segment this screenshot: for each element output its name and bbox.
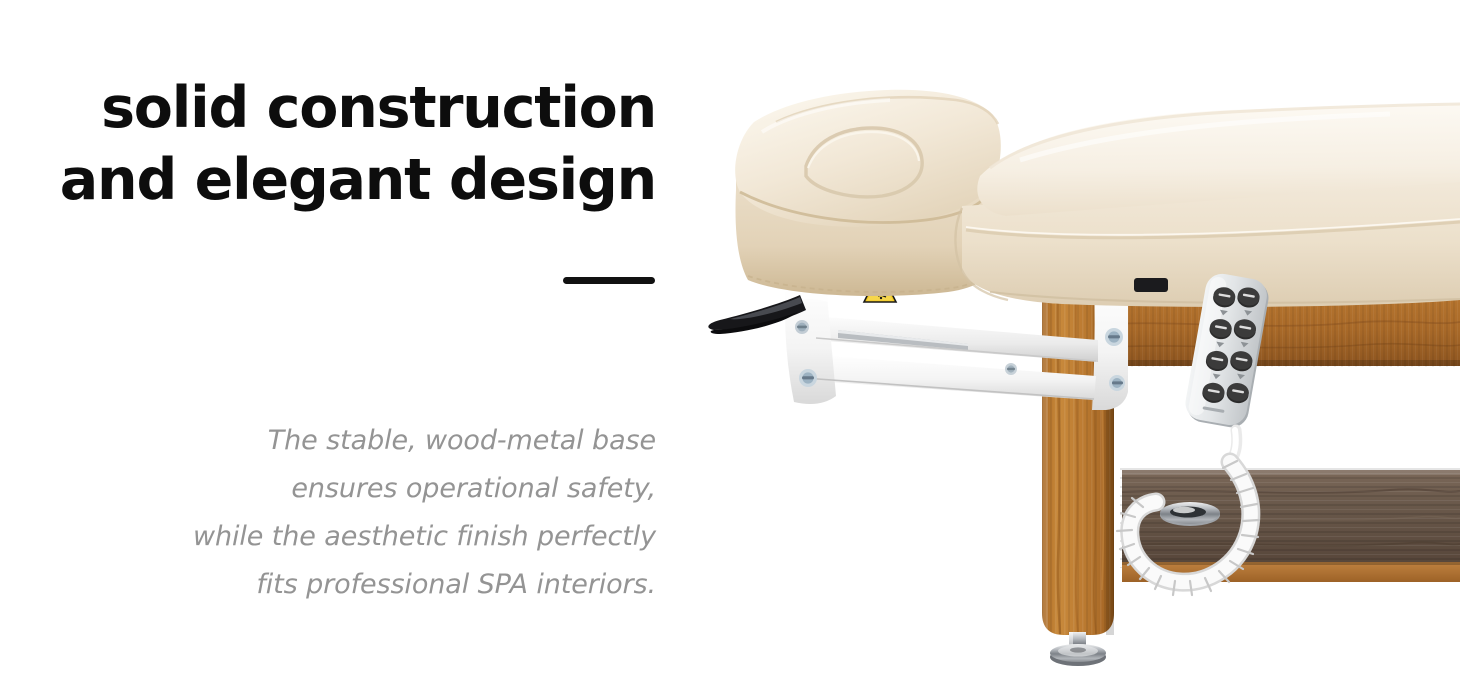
cross-beam [1120, 468, 1460, 582]
headline-line-1: solid construction [36, 72, 656, 144]
headrest-cushion [735, 90, 1001, 296]
divider-rule [563, 277, 655, 284]
headline-line-2: and elegant design [36, 144, 656, 216]
massage-table-illustration [690, 0, 1460, 680]
page-title: solid construction and elegant design [36, 72, 656, 216]
description-text: The stable, wood-metal base ensures oper… [36, 417, 656, 609]
subcopy-line-3: while the aesthetic finish perfectly [36, 513, 656, 561]
subcopy-line-1: The stable, wood-metal base [36, 417, 656, 465]
mattress-clip [1134, 278, 1168, 292]
subcopy-line-4: fits professional SPA interiors. [36, 561, 656, 609]
text-column: solid construction and elegant design Th… [0, 0, 680, 680]
subcopy-line-2: ensures operational safety, [36, 465, 656, 513]
promo-banner: solid construction and elegant design Th… [0, 0, 1460, 680]
product-image [690, 0, 1460, 680]
cable-hook [1160, 502, 1220, 526]
